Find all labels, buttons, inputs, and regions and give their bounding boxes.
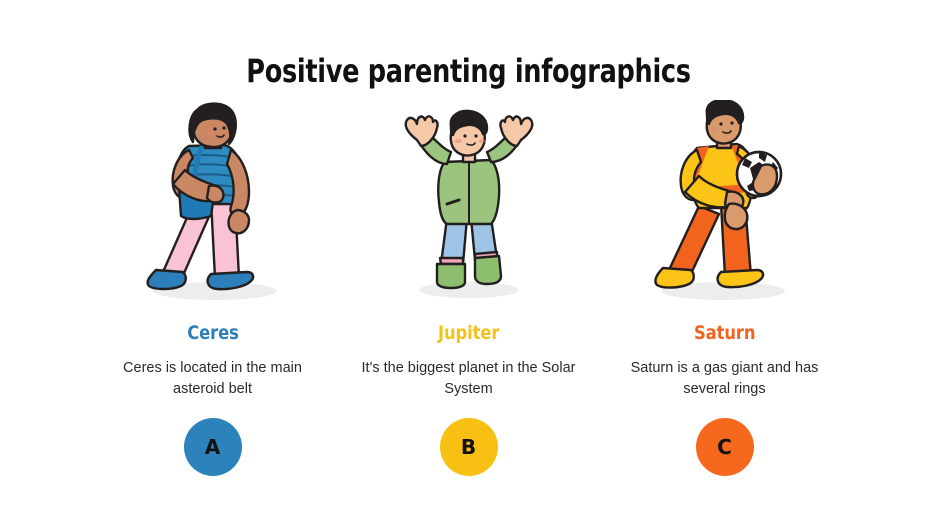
- infographic-column-saturn[interactable]: Saturn Saturn is a gas giant and has sev…: [597, 100, 853, 476]
- column-description-jupiter: It's the biggest planet in the Solar Sys…: [361, 358, 576, 400]
- infographic-column-ceres[interactable]: Ceres Ceres is located in the main aster…: [85, 100, 341, 476]
- walking-woman-with-shoulder-bag-illustration: [113, 100, 313, 300]
- badge-c-label: C: [717, 435, 732, 459]
- page-title: Positive parenting infographics: [94, 52, 844, 90]
- infographic-columns: Ceres Ceres is located in the main aster…: [0, 100, 937, 500]
- badge-b-label: B: [461, 435, 476, 459]
- column-title-jupiter: Jupiter: [438, 322, 499, 344]
- column-description-saturn: Saturn is a gas giant and has several ri…: [617, 358, 832, 400]
- slide-canvas: Positive parenting infographics: [0, 0, 937, 527]
- badge-c[interactable]: C: [696, 418, 754, 476]
- badge-a-label: A: [205, 435, 220, 459]
- boy-with-raised-arms-illustration: [369, 100, 569, 300]
- boy-holding-soccer-ball-illustration: [625, 100, 825, 300]
- column-description-ceres: Ceres is located in the main asteroid be…: [105, 358, 320, 400]
- badge-a[interactable]: A: [184, 418, 242, 476]
- column-title-saturn: Saturn: [694, 322, 755, 344]
- column-title-ceres: Ceres: [187, 322, 239, 344]
- infographic-column-jupiter[interactable]: Jupiter It's the biggest planet in the S…: [341, 100, 597, 476]
- badge-b[interactable]: B: [440, 418, 498, 476]
